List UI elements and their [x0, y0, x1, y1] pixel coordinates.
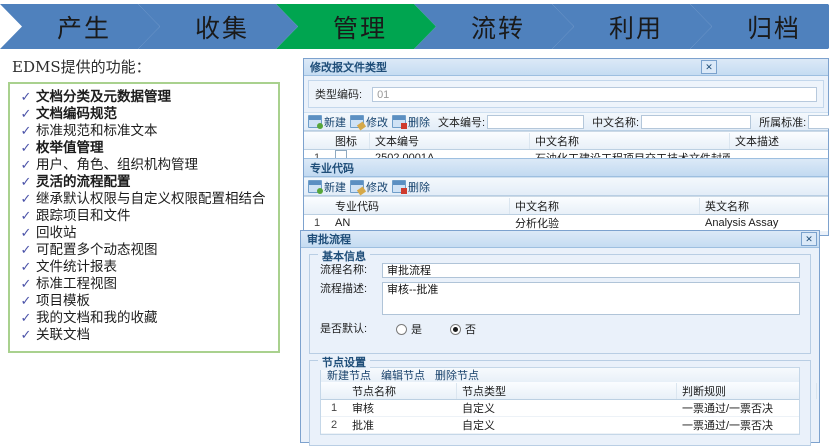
feature-item-label: 继承默认权限与自定义权限配置相结合: [36, 191, 272, 207]
check-icon: ✓: [16, 106, 36, 122]
node-toolbar-button-删除节点[interactable]: 删除节点: [435, 367, 479, 383]
feature-item-label: 用户、角色、组织机构管理: [36, 157, 272, 173]
grid-column-header[interactable]: 节点类型: [457, 383, 677, 399]
radio-option-是[interactable]: 是: [396, 321, 436, 337]
process-step-1[interactable]: 产生: [0, 4, 160, 49]
feature-item-label: 文档分类及元数据管理: [36, 89, 272, 105]
feature-item-label: 项目模板: [36, 293, 272, 309]
flow-name-input[interactable]: 审批流程: [382, 263, 800, 278]
table-cell: 批准: [347, 417, 457, 433]
table-cell: 审核: [347, 400, 457, 416]
toolbar-filter-2: 中文名称:: [592, 114, 751, 130]
toolbar-filter-input[interactable]: [808, 115, 829, 129]
process-step-label: 收集: [195, 9, 249, 45]
feature-item: ✓继承默认权限与自定义权限配置相结合: [16, 191, 272, 207]
feature-item-label: 灵活的流程配置: [36, 174, 272, 190]
flow-desc-label: 流程描述:: [320, 282, 382, 297]
process-step-2[interactable]: 收集: [138, 4, 298, 49]
dialog-titlebar[interactable]: 修改报文件类型 ✕: [304, 59, 828, 76]
radio-button[interactable]: [396, 324, 407, 335]
check-icon: ✓: [16, 310, 36, 326]
table-cell: Analysis Assay: [700, 217, 829, 229]
feature-item: ✓可配置多个动态视图: [16, 242, 272, 258]
feature-item: ✓关联文档: [16, 327, 272, 343]
flow-name-label: 流程名称:: [320, 263, 382, 278]
toolbar-button-label: 修改: [366, 179, 388, 195]
close-icon[interactable]: ✕: [701, 60, 717, 74]
toolbar-filter-3: 所属标准:: [759, 114, 829, 130]
table-cell: 分析化验: [510, 215, 700, 231]
row-number: 1: [304, 217, 330, 229]
check-icon: ✓: [16, 191, 36, 207]
process-step-label: 管理: [333, 9, 387, 45]
left-column: EDMS提供的功能： ✓文档分类及元数据管理✓文档编码规范✓标准规范和标准文本✓…: [8, 56, 293, 353]
flow-desc-row: 流程描述: 审核--批准: [320, 282, 800, 315]
check-icon: ✓: [16, 225, 36, 241]
feature-item: ✓用户、角色、组织机构管理: [16, 157, 272, 173]
check-icon: ✓: [16, 293, 36, 309]
toolbar-button-label: 删除: [408, 114, 430, 130]
feature-item-label: 跟踪项目和文件: [36, 208, 272, 224]
check-icon: ✓: [16, 259, 36, 275]
toolbar-filter-1: 文本编号:: [438, 114, 584, 130]
feature-item: ✓枚举值管理: [16, 140, 272, 156]
feature-item: ✓跟踪项目和文件: [16, 208, 272, 224]
delete-icon: [392, 115, 406, 128]
grid-column-header[interactable]: 中文名称: [530, 133, 730, 149]
grid-column-header[interactable]: 中文名称: [510, 198, 700, 214]
check-icon: ✓: [16, 208, 36, 224]
feature-item-label: 枚举值管理: [36, 140, 272, 156]
grid-column-header[interactable]: 英文名称: [700, 198, 829, 214]
flow-name-row: 流程名称: 审批流程: [320, 263, 800, 278]
check-icon: ✓: [16, 174, 36, 190]
new-icon: [308, 180, 322, 193]
flow-desc-textarea[interactable]: 审核--批准: [382, 282, 800, 315]
table-row[interactable]: 1审核自定义一票通过/一票否决: [321, 400, 799, 417]
feature-item: ✓回收站: [16, 225, 272, 241]
toolbar-filter-label: 中文名称:: [592, 114, 639, 130]
major-code-toolbar[interactable]: 新建修改删除: [304, 177, 828, 196]
toolbar-button-label: 删除: [408, 179, 430, 195]
node-toolbar-button-编辑节点[interactable]: 编辑节点: [381, 367, 425, 383]
feature-item: ✓我的文档和我的收藏: [16, 310, 272, 326]
page-title: EDMS提供的功能：: [12, 56, 293, 77]
check-icon: ✓: [16, 242, 36, 258]
toolbar-button-修改[interactable]: 修改: [350, 114, 388, 130]
grid-column-header[interactable]: 专业代码: [330, 198, 510, 214]
radio-label: 否: [465, 321, 476, 337]
feature-item: ✓标准工程视图: [16, 276, 272, 292]
radio-label: 是: [411, 321, 422, 337]
check-icon: ✓: [16, 89, 36, 105]
table-row[interactable]: 2批准自定义一票通过/一票否决: [321, 417, 799, 434]
feature-item-label: 文件统计报表: [36, 259, 272, 275]
process-step-label: 流转: [471, 9, 525, 45]
grid-column-header[interactable]: 节点名称: [347, 383, 457, 399]
edit-icon: [350, 180, 364, 193]
toolbar-filter-label: 所属标准:: [759, 114, 806, 130]
delete-icon: [392, 180, 406, 193]
major-code-header: 专业代码: [304, 158, 828, 177]
table-cell: AN: [330, 217, 510, 229]
table-cell: 一票通过/一票否决: [677, 417, 817, 433]
node-settings-legend: 节点设置: [318, 354, 370, 370]
feature-item: ✓文件统计报表: [16, 259, 272, 275]
toolbar-filter-label: 文本编号:: [438, 114, 485, 130]
grid-column-header[interactable]: 判断规则: [677, 383, 817, 399]
node-grid[interactable]: 节点名称节点类型判断规则1审核自定义一票通过/一票否决2批准自定义一票通过/一票…: [320, 382, 800, 435]
is-default-row: 是否默认: 是否: [320, 321, 800, 337]
toolbar-button-修改[interactable]: 修改: [350, 179, 388, 195]
check-icon: ✓: [16, 140, 36, 156]
toolbar-button-删除[interactable]: 删除: [392, 114, 430, 130]
feature-item: ✓文档编码规范: [16, 106, 272, 122]
check-icon: ✓: [16, 276, 36, 292]
toolbar-button-新建[interactable]: 新建: [308, 179, 346, 195]
feature-item-label: 文档编码规范: [36, 106, 272, 122]
dialog-approval-flow[interactable]: 审批流程 ✕ 基本信息 流程名称: 审批流程 流程描述: 审核--批准 是否默认…: [300, 230, 820, 443]
document-type-toolbar[interactable]: 新建修改删除文本编号:中文名称:所属标准:: [304, 112, 828, 131]
process-step-label: 利用: [609, 9, 663, 45]
grid-column-header[interactable]: 图标: [330, 133, 370, 149]
is-default-label: 是否默认:: [320, 322, 382, 337]
radio-button[interactable]: [450, 324, 461, 335]
grid-header: 图标文本编号中文名称文本描述: [304, 132, 828, 150]
grid-header: 节点名称节点类型判断规则: [321, 382, 799, 400]
table-cell: 自定义: [457, 400, 677, 416]
feature-item-label: 标准工程视图: [36, 276, 272, 292]
process-step-label: 归档: [747, 9, 801, 45]
check-icon: ✓: [16, 327, 36, 343]
check-icon: ✓: [16, 123, 36, 139]
feature-item-label: 可配置多个动态视图: [36, 242, 272, 258]
approval-dialog-titlebar[interactable]: 审批流程 ✕: [301, 231, 819, 248]
feature-item: ✓项目模板: [16, 293, 272, 309]
toolbar-button-新建[interactable]: 新建: [308, 114, 346, 130]
feature-item: ✓灵活的流程配置: [16, 174, 272, 190]
feature-item: ✓文档分类及元数据管理: [16, 89, 272, 105]
feature-item: ✓标准规范和标准文本: [16, 123, 272, 139]
grid-column-header[interactable]: 文本编号: [370, 133, 530, 149]
toolbar-button-删除[interactable]: 删除: [392, 179, 430, 195]
node-toolbar[interactable]: 新建节点编辑节点删除节点: [320, 367, 800, 382]
process-step-5[interactable]: 利用: [552, 4, 712, 49]
feature-item-label: 关联文档: [36, 327, 272, 343]
check-icon: ✓: [16, 157, 36, 173]
edit-icon: [350, 115, 364, 128]
process-step-label: 产生: [57, 9, 111, 45]
row-number: 1: [321, 402, 347, 414]
major-code-grid[interactable]: 专业代码中文名称英文名称1AN分析化验Analysis Assay: [304, 196, 828, 232]
panel-major-code[interactable]: 专业代码 新建修改删除 专业代码中文名称英文名称1AN分析化验Analysis …: [303, 158, 829, 236]
type-code-field-strip: 类型编码: 01: [308, 80, 824, 108]
feature-list-box: ✓文档分类及元数据管理✓文档编码规范✓标准规范和标准文本✓枚举值管理✓用户、角色…: [8, 82, 280, 353]
grid-column-header[interactable]: 文本描述: [730, 133, 829, 149]
toolbar-filter-input[interactable]: [641, 115, 751, 129]
close-icon[interactable]: ✕: [801, 232, 817, 246]
dialog-title-text: 修改报文件类型: [310, 59, 826, 75]
basic-info-group: 基本信息 流程名称: 审批流程 流程描述: 审核--批准 是否默认: 是否: [309, 254, 811, 354]
feature-item-label: 我的文档和我的收藏: [36, 310, 272, 326]
process-flow-bar: 产生收集管理流转利用归档: [0, 4, 829, 49]
feature-item-label: 标准规范和标准文本: [36, 123, 272, 139]
new-icon: [308, 115, 322, 128]
toolbar-filter-input[interactable]: [487, 115, 584, 129]
type-code-label: 类型编码:: [315, 86, 362, 102]
is-default-radio-group[interactable]: 是否: [382, 321, 490, 337]
approval-dialog-title-text: 审批流程: [307, 231, 801, 247]
grid-header: 专业代码中文名称英文名称: [304, 197, 828, 215]
basic-info-legend: 基本信息: [318, 248, 370, 264]
process-step-4[interactable]: 流转: [414, 4, 574, 49]
toolbar-button-label: 新建: [324, 114, 346, 130]
table-cell: 一票通过/一票否决: [677, 400, 817, 416]
row-number: 2: [321, 419, 347, 431]
major-code-title: 专业代码: [310, 160, 354, 176]
process-step-3[interactable]: 管理: [276, 4, 436, 49]
dialog-document-type[interactable]: 修改报文件类型 ✕ 类型编码: 01 新建修改删除文本编号:中文名称:所属标准:…: [303, 58, 829, 158]
table-cell: 自定义: [457, 417, 677, 433]
feature-item-label: 回收站: [36, 225, 272, 241]
toolbar-button-label: 修改: [366, 114, 388, 130]
type-code-input[interactable]: 01: [372, 87, 817, 102]
radio-option-否[interactable]: 否: [450, 321, 490, 337]
toolbar-button-label: 新建: [324, 179, 346, 195]
node-settings-group: 节点设置 新建节点编辑节点删除节点 节点名称节点类型判断规则1审核自定义一票通过…: [309, 360, 811, 446]
